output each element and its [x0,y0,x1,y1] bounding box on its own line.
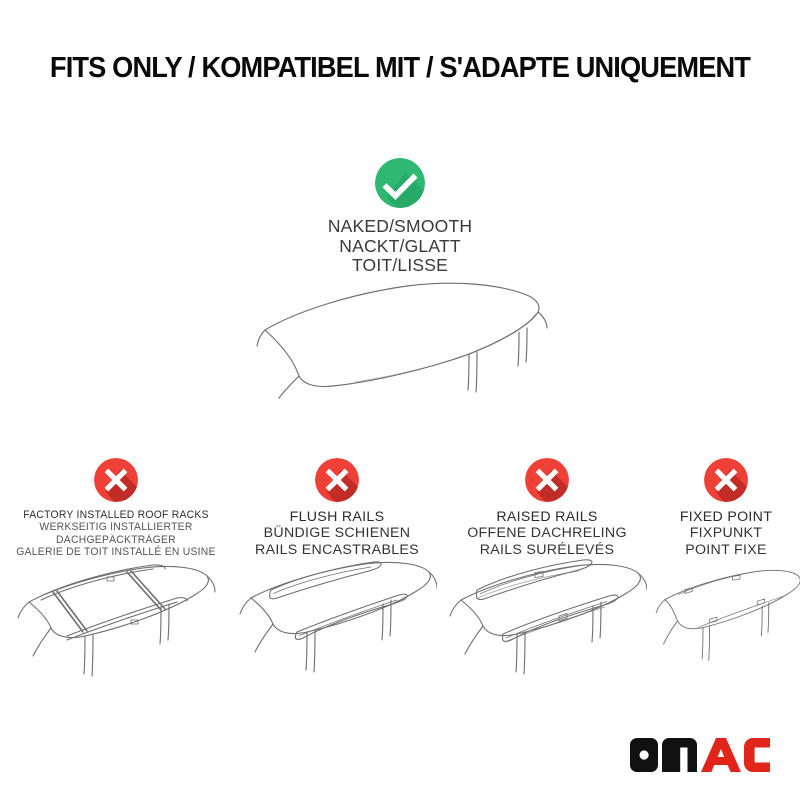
approved-label-de: NACKT/GLATT [0,237,800,257]
x-circle-icon [315,458,359,502]
label-de-1: OFFENE DACHRELING [442,525,652,541]
approved-section: NAKED/SMOOTH NACKT/GLATT TOIT/LISSE [0,158,800,276]
page-title: FITS ONLY / KOMPATIBEL MIT / S'ADAPTE UN… [18,52,782,85]
check-circle-icon [375,158,425,208]
x-circle-icon [525,458,569,502]
incompatible-item-fixed-point: FIXED POINT FIXPUNKT POINT FIXE [652,458,800,558]
approved-label-fr: TOIT/LISSE [0,256,800,276]
label-en: FIXED POINT [652,509,800,525]
car-roof-flush-rails-illustration [232,546,442,686]
x-circle-icon [94,458,138,502]
approved-labels: NAKED/SMOOTH NACKT/GLATT TOIT/LISSE [0,217,800,276]
car-roof-factory-racks-illustration [0,550,232,690]
incompatible-sections: FACTORY INSTALLED ROOF RACKS WERKSEITIG … [0,458,800,708]
label-en: FLUSH RAILS [232,509,442,525]
logo-letter-o [630,738,658,772]
incompatible-item-flush-rails: FLUSH RAILS BÜNDIGE SCHIENEN RAILS ENCAS… [232,458,442,558]
logo-letter-c [744,738,770,772]
label-en: FACTORY INSTALLED ROOF RACKS [2,509,229,521]
omac-logo [630,738,770,772]
logo-letter-a [701,738,741,772]
incompatible-item-factory-racks: FACTORY INSTALLED ROOF RACKS WERKSEITIG … [0,458,232,558]
label-de-1: BÜNDIGE SCHIENEN [232,525,442,541]
car-roof-raised-rails-illustration [442,546,652,686]
car-roof-fixed-point-illustration [652,546,800,686]
approved-label-en: NAKED/SMOOTH [0,217,800,237]
label-de-1: WERKSEITIG INSTALLIERTER [2,521,229,533]
label-de-1: FIXPUNKT [652,525,800,541]
x-circle-icon [704,458,748,502]
incompatible-item-raised-rails: RAISED RAILS OFFENE DACHRELING RAILS SUR… [442,458,652,558]
label-en: RAISED RAILS [442,509,652,525]
label-de-2: DACHGEPÄCKTRÄGER [2,534,229,546]
car-roof-naked-smooth-illustration [255,278,555,403]
logo-letter-m [662,738,697,772]
